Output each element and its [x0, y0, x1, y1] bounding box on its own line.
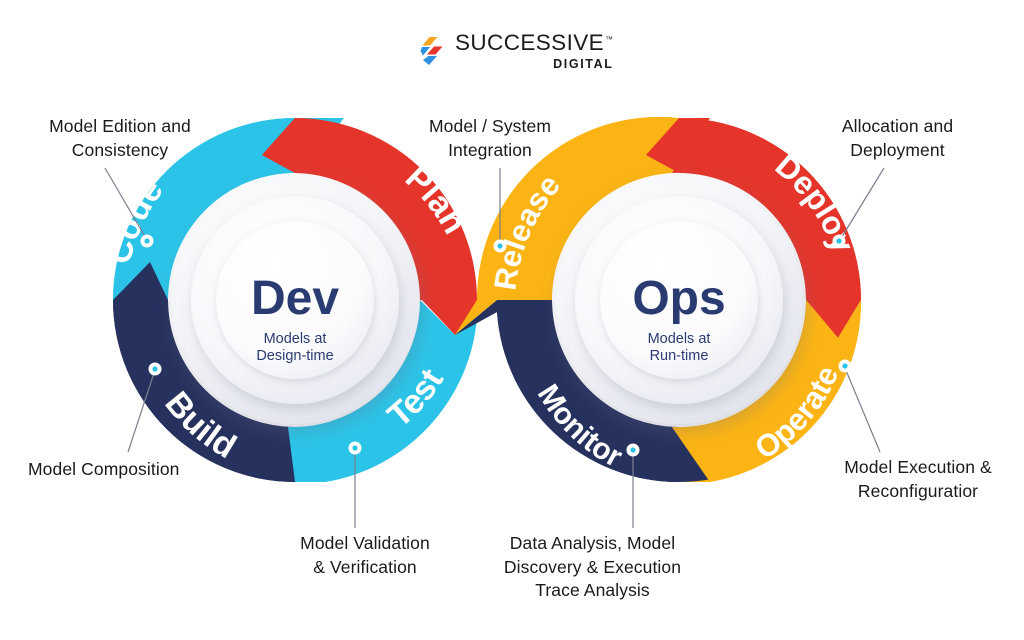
dev-hub-subtitle-line1: Models at — [264, 331, 327, 347]
ops-hub-subtitle-line2: Run-time — [650, 348, 709, 364]
dev-hub-subtitle-line2: Design-time — [256, 348, 333, 364]
annotation-allocation-deployment: Allocation and Deployment — [800, 115, 995, 162]
annotation-data-analysis-discovery-trace: Data Analysis, Model Discovery & Executi… — [480, 532, 705, 603]
leader-line-deploy — [840, 168, 884, 240]
annotation-model-validation-verification: Model Validation & Verification — [270, 532, 460, 579]
leader-dot-code — [141, 235, 154, 248]
devops-infinity-diagram: SUCCESSIVE™ DIGITAL — [0, 0, 1024, 640]
ops-hub-subtitle-line1: Models at — [648, 331, 711, 347]
leader-dot-test — [349, 442, 362, 455]
annotation-model-composition: Model Composition — [28, 458, 258, 482]
leader-dot-build — [149, 363, 162, 376]
annotation-model-execution-reconfiguration: Model Execution & Reconfiguratior — [800, 456, 1024, 503]
ops-hub: Ops Models at Run-time — [555, 176, 803, 424]
dev-hub-title: Dev — [251, 272, 339, 325]
leader-line-operate — [845, 368, 880, 452]
annotation-model-system-integration: Model / System Integration — [400, 115, 580, 162]
leader-dot-monitor — [627, 444, 640, 457]
annotation-model-edition-consistency: Model Edition and Consistency — [10, 115, 230, 162]
dev-hub: Dev Models at Design-time — [171, 176, 419, 424]
ops-hub-title: Ops — [632, 272, 725, 325]
leader-dot-deploy — [833, 235, 846, 248]
leader-dot-operate — [839, 360, 852, 373]
leader-dot-plan — [494, 240, 507, 253]
